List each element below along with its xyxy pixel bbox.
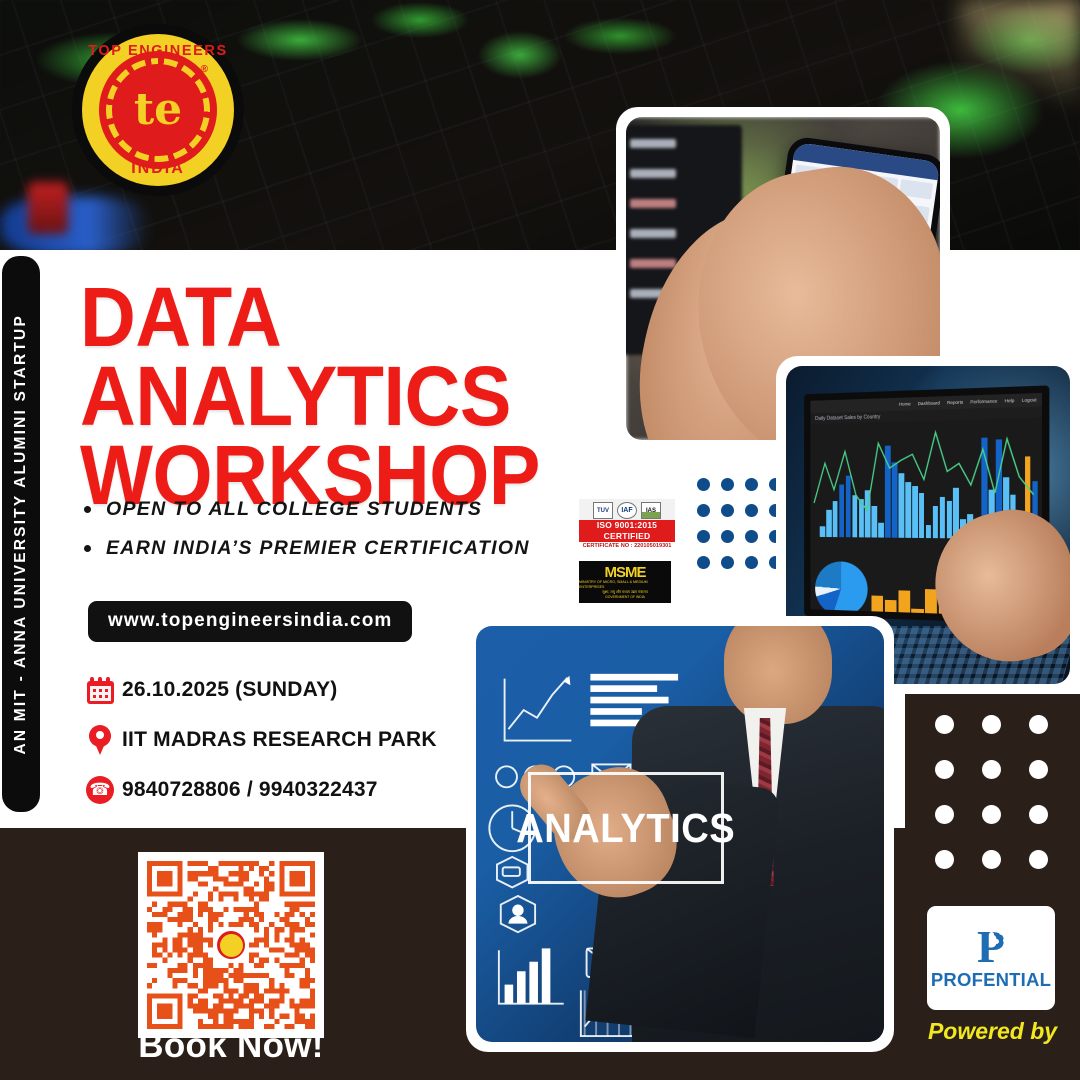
contact-details: 26.10.2025 (SUNDAY) IIT MADRAS RESEARCH … (78, 668, 437, 818)
partner-logo-card: P PROFENTIAL (927, 906, 1055, 1010)
location-pin-icon (78, 725, 122, 755)
decor-dot (697, 504, 710, 517)
logo-inner-ring: te (99, 51, 217, 169)
decor-dot (935, 850, 954, 869)
decor-dot (982, 715, 1001, 734)
decor-dot (697, 530, 710, 543)
background-glow-yellow (960, 0, 1080, 120)
side-tagline-badge: AN MIT - ANNA UNIVERSITY ALUMINI STARTUP (2, 256, 40, 812)
qr-code[interactable] (147, 861, 315, 1029)
decor-dot (982, 850, 1001, 869)
dashboard-pie-chart (815, 561, 868, 617)
decor-dot (1029, 805, 1048, 824)
phone-icon (78, 776, 122, 804)
contact-row-phone: 9840728806 / 9940322437 (78, 768, 437, 812)
decor-dot (745, 478, 758, 491)
decor-dot (697, 478, 710, 491)
decor-dot (1029, 850, 1048, 869)
background-blur-red (28, 182, 68, 234)
decor-dot (697, 556, 710, 569)
phone-numbers-text: 9840728806 / 9940322437 (122, 778, 378, 802)
decor-dot (721, 478, 734, 491)
decor-dot (935, 760, 954, 779)
decor-dot (982, 805, 1001, 824)
partner-logo-letter: P (977, 926, 1005, 968)
decor-dot (745, 556, 758, 569)
event-date-text: 26.10.2025 (SUNDAY) (122, 678, 337, 702)
decor-dot (935, 805, 954, 824)
decor-dot (1029, 715, 1048, 734)
decor-dot (982, 760, 1001, 779)
contact-row-venue: IIT MADRAS RESEARCH PARK (78, 718, 437, 762)
msme-title: MSME (605, 565, 646, 580)
msme-government-text: GOVERNMENT OF INDIA (605, 595, 645, 600)
decor-dot (745, 530, 758, 543)
ias-mark-icon: IAS (641, 502, 661, 519)
iso-accreditation-marks: TUV IAF IAS (579, 499, 675, 520)
logo-monogram: te (134, 90, 182, 130)
poster-root: TOP ENGINEERS INDIA ® te AN MIT - ANNA U… (0, 0, 1080, 1080)
powered-by-label: Powered by (905, 1018, 1080, 1045)
decor-dot (935, 715, 954, 734)
list-item: OPEN TO ALL COLLEGE STUDENTS (82, 498, 552, 521)
decorative-white-dot-grid (935, 715, 1057, 865)
partner-name: PROFENTIAL (931, 969, 1051, 991)
decor-dot (745, 504, 758, 517)
logo-bottom-text: INDIA (82, 160, 234, 178)
top-engineers-logo: TOP ENGINEERS INDIA ® te (72, 24, 244, 196)
book-now-caption: Book Now! (138, 1026, 324, 1066)
partner-logo-dots-icon (987, 930, 1009, 952)
qr-code-block[interactable] (138, 852, 324, 1038)
event-venue-text: IIT MADRAS RESEARCH PARK (122, 728, 437, 752)
iso-certificate-number: CERTIFICATE NO : 220105019301 (579, 542, 675, 550)
list-item: EARN INDIA’S PREMIER CERTIFICATION (82, 537, 552, 560)
analytics-label-box: ANALYTICS (528, 772, 724, 884)
website-url-pill[interactable]: www.topengineersindia.com (88, 601, 412, 642)
side-tagline-text: AN MIT - ANNA UNIVERSITY ALUMINI STARTUP (12, 314, 30, 754)
headline-line-1: DATA ANALYTICS (80, 278, 558, 436)
registered-mark-icon: ® (201, 64, 208, 75)
decor-dot (721, 556, 734, 569)
tuv-mark-icon: TUV (593, 502, 613, 519)
iso-certification-badge: TUV IAF IAS ISO 9001:2015 CERTIFIED CERT… (579, 499, 675, 543)
page-title: DATA ANALYTICS WORKSHOP (80, 278, 600, 515)
iaf-mark-icon: IAF (617, 502, 637, 519)
logo-outer-ring: TOP ENGINEERS INDIA ® te (82, 34, 234, 186)
calendar-icon (78, 677, 122, 704)
msme-subtitle-english: MINISTRY OF MICRO, SMALL & MEDIUM ENTERP… (579, 580, 671, 590)
decor-dot (721, 530, 734, 543)
msme-badge: MSME MINISTRY OF MICRO, SMALL & MEDIUM E… (579, 561, 671, 603)
contact-row-date: 26.10.2025 (SUNDAY) (78, 668, 437, 712)
decor-dot (721, 504, 734, 517)
decorative-blue-dot-grid (697, 478, 783, 570)
photo-card-analytics: ANALYTICS (466, 616, 894, 1052)
qr-center-logo (214, 928, 248, 962)
decor-dot (1029, 760, 1048, 779)
logo-top-text: TOP ENGINEERS (82, 43, 234, 59)
iso-certified-text: ISO 9001:2015 CERTIFIED (579, 520, 675, 542)
analytics-overlay-text: ANALYTICS (517, 805, 736, 852)
background-blur-blue (0, 196, 150, 256)
gear-icon: te (112, 64, 204, 156)
feature-bullet-list: OPEN TO ALL COLLEGE STUDENTS EARN INDIA’… (82, 498, 552, 576)
